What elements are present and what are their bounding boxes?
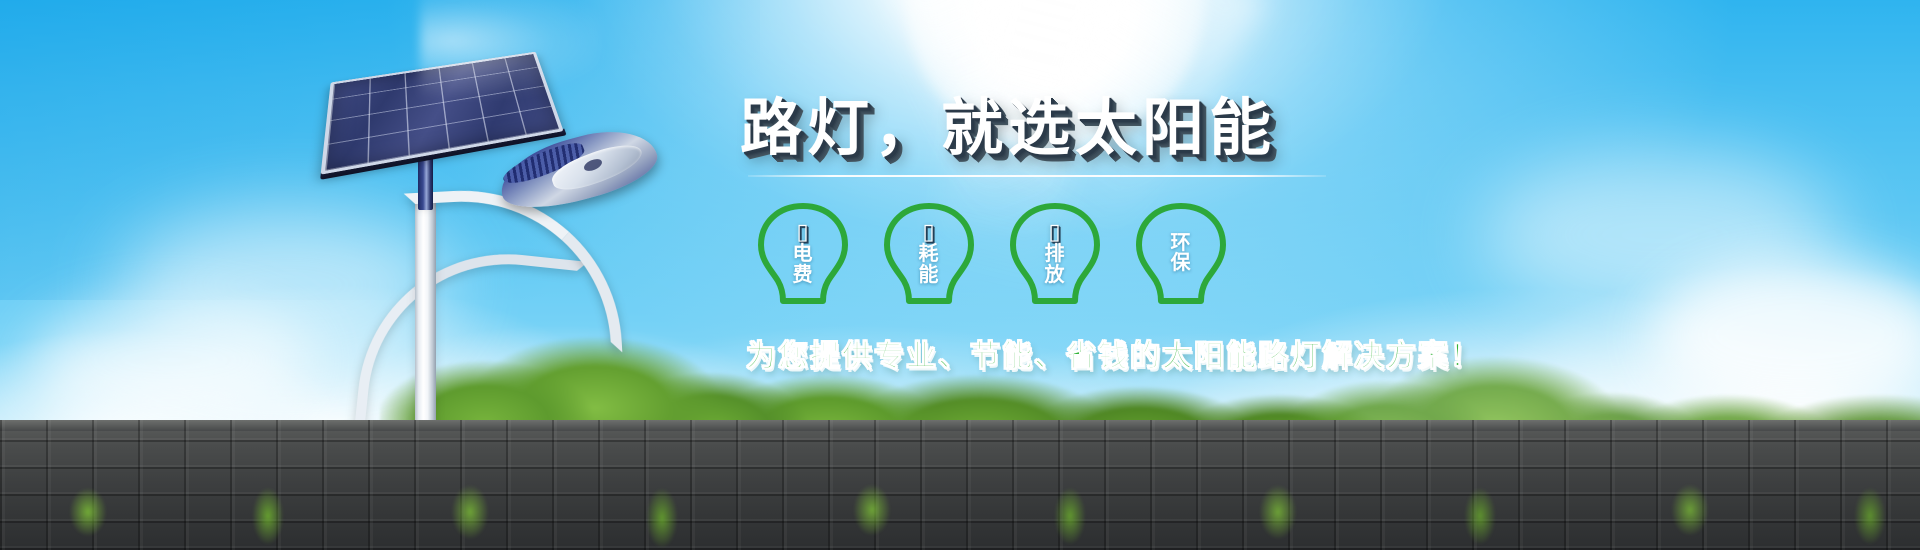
banner-tagline: 为您提供专业、节能、省钱的太阳能路灯解决方案！ xyxy=(746,331,1440,375)
badge-char-1: 排 xyxy=(1045,244,1066,264)
feature-badge-paifang[interactable]: ▯ 排 放 xyxy=(1006,201,1104,305)
badge-zero-glyph: ▯ xyxy=(922,221,935,243)
feature-badge-text: ▯ 电 费 xyxy=(793,221,814,285)
headline-divider xyxy=(748,175,1326,177)
feature-badge-dianfei[interactable]: ▯ 电 费 xyxy=(754,201,852,305)
badge-char-2: 放 xyxy=(1045,265,1066,285)
banner-headline: 路灯，就选太阳能 xyxy=(740,96,1440,161)
feature-badge-haoneng[interactable]: ▯ 耗 能 xyxy=(880,201,978,305)
feature-badge-text: ▯ 耗 能 xyxy=(919,221,940,285)
ivy-vines xyxy=(0,472,1920,550)
feature-badge-huanbao[interactable]: 环 保 xyxy=(1132,201,1230,305)
badge-char-2: 费 xyxy=(793,265,814,285)
badge-char-1: 电 xyxy=(793,244,814,264)
badge-char-2: 保 xyxy=(1171,253,1192,273)
badge-zero-glyph: ▯ xyxy=(1048,221,1061,243)
badge-char-2: 能 xyxy=(919,265,940,285)
badge-char-1: 环 xyxy=(1171,233,1192,253)
feature-badge-list: ▯ 电 费 ▯ 耗 能 ▯ xyxy=(754,201,1440,305)
banner-copy: 路灯，就选太阳能 ▯ 电 费 ▯ 耗 能 xyxy=(740,96,1440,375)
feature-badge-text: ▯ 排 放 xyxy=(1045,221,1066,285)
badge-char-1: 耗 xyxy=(919,244,940,264)
banner-stage: 路灯，就选太阳能 ▯ 电 费 ▯ 耗 能 xyxy=(0,0,1920,550)
badge-zero-glyph: ▯ xyxy=(796,221,809,243)
feature-badge-text: 环 保 xyxy=(1171,233,1192,274)
